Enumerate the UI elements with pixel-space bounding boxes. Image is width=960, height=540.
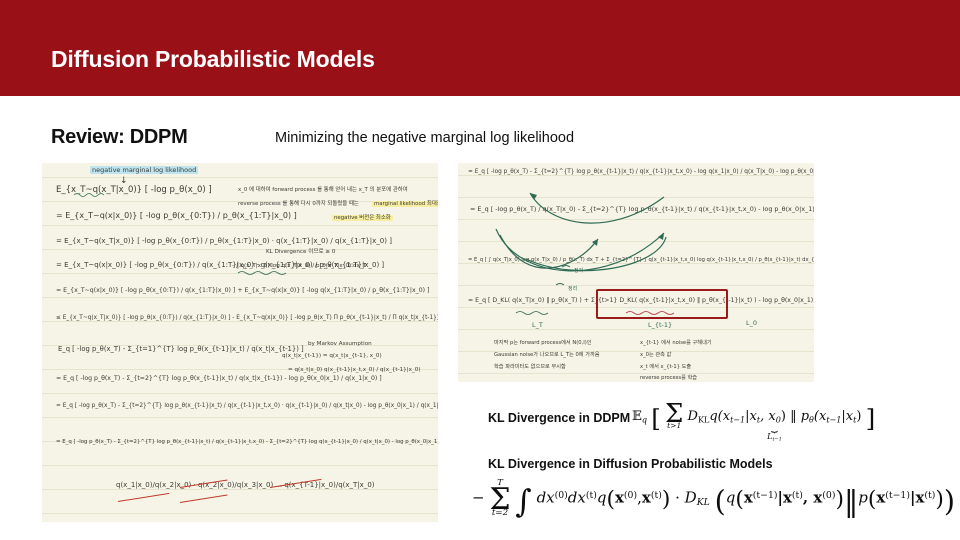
multiplication-dot: · [675, 488, 680, 506]
q2-left-paren: ( [735, 493, 744, 506]
section-heading-review: Review: DDPM [51, 126, 187, 149]
expectation-subscript: q [642, 415, 647, 424]
minus-sign: − [472, 488, 485, 506]
note-line-highlight-title: negative marginal log likelihood [90, 166, 198, 174]
q2-x: x [744, 488, 753, 506]
kl-divergence-dpm-label: KL Divergence in Diffusion Probabilistic… [488, 457, 773, 471]
note-annotation-highlight: marginal likelihood 최대화 [372, 199, 438, 207]
q2-x-superscript: (t−1) [753, 490, 778, 501]
p-close-paren: ) [856, 409, 861, 424]
summation: Σ t>1 [665, 404, 683, 429]
q2-comma-superscript: (0) [822, 490, 835, 501]
note-annotation: 학습 파라미터도 없으므로 무시함 [494, 363, 566, 370]
note-annotation: Gaussian noise가 나오므로 L_T는 0에 가까움 [494, 351, 600, 358]
note-annotation: q(x_t|x_{t-1}) = q(x_t|x_{t-1}, x_0) [282, 353, 382, 359]
arrow-note: 정리 [568, 285, 577, 292]
q-symbol: q [597, 488, 607, 506]
dxt-superscript: (t) [586, 490, 597, 501]
note-annotation: reverse process 를 통해 다시 0까지 되돌렸을 때는 [238, 199, 359, 207]
arrow-note: 정리 [574, 267, 583, 274]
q-arg-xt: x [642, 488, 651, 506]
kl-term-underbrace: DKLq(xt−1|xt, x0) ‖ pθ(xt−1|xt) ⏟ Lt−1 [688, 409, 862, 424]
note-annotation: x_0는 관측 값 [640, 351, 671, 358]
kl-divergence-dpm-formula: − T Σ t=2 ∫ dx(0)dx(t)q(x(0),x(t)) · DKL… [472, 479, 955, 518]
note-annotation: - ∫ q(x_T|x_0) log q(x_T|x_0) / p_θ(x_T|… [232, 263, 366, 269]
p-bar-superscript: (t) [924, 490, 935, 501]
blue-highlight: negative marginal log likelihood [90, 166, 198, 174]
yellow-highlight: marginal likelihood 최대화 [372, 201, 438, 207]
dx0: dx [537, 488, 555, 506]
p-x-superscript: (t−1) [885, 490, 910, 501]
q2-bar-superscript: (t) [792, 490, 803, 501]
q-arg-xt-superscript: (t) [651, 490, 662, 501]
q-arg-x0: x [615, 488, 624, 506]
summation: T Σ t=2 [489, 479, 510, 518]
q-term: q(x [709, 409, 730, 424]
note-line: = E_q [ ∫ q(x_T|x_0) log q(x_T|x_0) / p_… [468, 257, 814, 263]
note-annotation: reverse process를 학습 [640, 374, 697, 381]
dxt: dx [568, 488, 586, 506]
note-annotation: x_0 에 대하여 forward process 를 통해 얻어 내는 x_T… [238, 185, 408, 193]
note-line: = E_q [ -log p_θ(x_T) - Σ_{t=2}^{T} log … [56, 439, 438, 445]
red-highlight-box [596, 289, 728, 319]
ruled-lines-right [458, 163, 814, 382]
note-annotation: 마지막 p는 forward process에서 N(0,I)인 [494, 339, 592, 346]
note-annotation-highlight: negative 버전은 최소화 [332, 213, 393, 221]
sigma-icon: Σ [489, 492, 510, 509]
kl-divergence-ddpm-label: KL Divergence in DDPM [488, 411, 630, 425]
note-line: = E_{x_T~q(x_T|x_0)} [ -log p_θ(x_{0:T})… [56, 237, 392, 245]
kl-separator: ‖ [844, 495, 858, 509]
section-subtitle: Minimizing the negative marginal log lik… [275, 130, 574, 146]
dkl-symbol: D [688, 409, 698, 424]
q-right-paren: ) [662, 493, 671, 506]
left-bracket: [ [651, 413, 661, 425]
yellow-highlight: negative 버전은 최소화 [332, 215, 393, 221]
sigma-icon: Σ [665, 407, 683, 421]
dkl-subscript: KL [697, 497, 710, 508]
dx0-superscript: (0) [555, 490, 568, 501]
q2-symbol: q [726, 488, 736, 506]
note-line: E_{x_T~q(x_T|x_0)} [ -log p_θ(x_0) ] [56, 185, 212, 195]
sum-subscript: t>1 [665, 422, 683, 430]
l-subscript: t−1 [772, 436, 781, 442]
handwritten-notes-left: negative marginal log likelihood ↓ E_{x_… [42, 163, 438, 522]
term-label-l0: L_0 [746, 319, 757, 327]
kl-divergence-ddpm-formula: 𝔼q [ Σ t>1 DKLq(xt−1|xt, x0) ‖ pθ(xt−1|x… [632, 404, 875, 429]
p-bar: |x [841, 409, 853, 424]
note-line: ≤ E_{x_T~q(x_T|x_0)} [ -log p_θ(x_{0:T})… [56, 315, 438, 321]
q-left-paren: ( [606, 493, 615, 506]
note-annotation: x_t 에서 x_{t-1} 도출 [640, 363, 691, 370]
term-label-lt: L_T [532, 321, 543, 329]
term-label-lt1: L_{t-1} [648, 321, 672, 329]
p-sub-t-1: t−1 [826, 415, 841, 424]
p-x: x [876, 488, 885, 506]
dkl-symbol: D [685, 488, 697, 506]
q-arg-x0-superscript: (0) [624, 490, 637, 501]
note-line: = E_{x_T~q(x|x_0)} [ -log p_θ(x_{0:T}) /… [56, 287, 429, 294]
underbrace-label: Lt−1 [688, 432, 862, 442]
kl-separator: ‖ [790, 409, 797, 424]
q2-bar-x: |x [778, 488, 792, 506]
expectation-symbol: 𝔼 [632, 409, 642, 424]
dkl-subscript: KL [698, 415, 709, 424]
note-annotation: x_{t-1} 에서 noise를 구해내기 [640, 339, 712, 346]
right-bracket: ] [866, 413, 876, 425]
note-line: = E_q [ -log p_θ(x_T) - Σ_{t=2}^{T} log … [56, 375, 382, 382]
sum-subscript: t=2 [489, 509, 510, 518]
note-annotation: = q(x_t|x_0) q(x_{t-1}|x_t,x_0) / q(x_{t… [288, 367, 420, 373]
note-line: = E_{x_T~q(x|x_0)} [ -log p_θ(x_{0:T}) /… [56, 211, 297, 220]
q-close-paren: ) [781, 409, 786, 424]
handwritten-notes-right: = E_q [ -log p_θ(x_T) - Σ_{t=2}^{T} log … [458, 163, 814, 382]
header-banner: Diffusion Probabilistic Models [0, 0, 960, 96]
p-right-paren: ) [935, 493, 944, 506]
note-line: = E_q [ -log p_θ(x_T) - Σ_{t=2}^{T} log … [468, 169, 814, 175]
note-annotation: by Markov Assumption [308, 341, 372, 347]
p-symbol: p [801, 409, 809, 424]
note-line: = E_q [ -log p_θ(x_T) / q(x_T|x_0) - Σ_{… [470, 205, 814, 213]
note-line: = E_q [ -log p_θ(x_T) - Σ_{t=2}^{T} log … [56, 403, 438, 409]
integral-icon: ∫ [515, 495, 531, 511]
q-sub-t-1: t−1 [730, 415, 745, 424]
page-title: Diffusion Probabilistic Models [51, 46, 375, 73]
outer-left-paren: ( [715, 495, 726, 509]
note-annotation: KL Divergence 이므로 ≥ 0 [266, 247, 335, 255]
outer-right-paren: ) [944, 495, 955, 509]
note-line: E_q [ -log p_θ(x_T) - Σ_{t=1}^{T} log p_… [58, 345, 304, 353]
q-bar: |x [745, 409, 757, 424]
p-bar-x: |x [910, 488, 924, 506]
note-line-telescoping: q(x_1|x_0)/q(x_2|x_0) · q(x_2|x_0)/q(x_3… [116, 481, 375, 489]
p-arg: (x [814, 409, 826, 424]
p-symbol: p [858, 488, 868, 506]
q2-comma-x: , x [803, 488, 822, 506]
underbrace-glyph: ⏟ [688, 424, 862, 430]
q2-right-paren: ) [835, 493, 844, 506]
